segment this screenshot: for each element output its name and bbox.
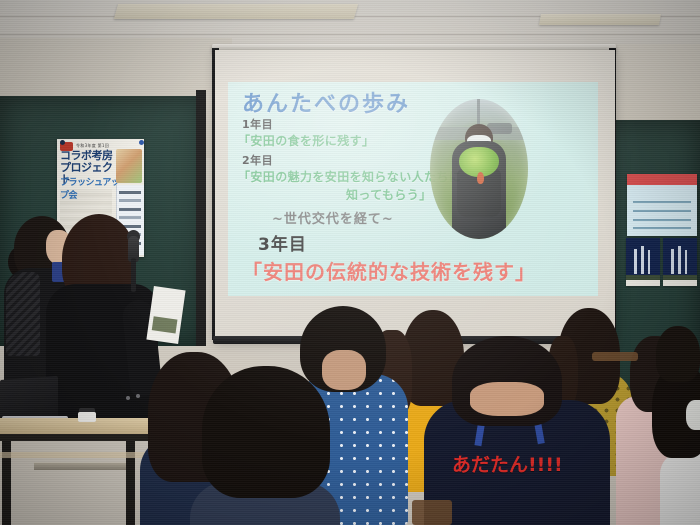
presentation-clicker [78,412,96,422]
handout-photo [152,316,178,333]
pushpin-icon [60,140,65,145]
slide-year2-quote-line1: 「安田の魅力を安田を知らない人たちに [238,168,461,185]
pushpin-icon [139,140,144,145]
slide-year2-quote-line2: 知ってもらう」 [346,186,432,203]
slide-title: あんたべの歩み [242,86,410,118]
poster-right-event-b [663,238,697,286]
poster-illustration [116,149,142,183]
chair-back [412,500,452,525]
poster-right-notice [627,174,697,236]
chalkboard-frame [196,90,206,346]
slide-photo-harvest [430,99,528,239]
slide-bridge-text: ~世代交代を経て~ [272,208,394,227]
microphone-handle [131,258,136,292]
tshirt-print-text: あだたん!!!! [452,450,563,477]
slide-year3-quote: 「安田の伝統的な技術を残す」 [242,256,536,285]
jacket-button-icon [126,396,130,400]
ceiling-seam [0,34,700,35]
poster-right-event-a [626,238,660,286]
face-mask-icon [686,400,700,430]
poster-subtitle: ブラッシュアップ会 [60,175,122,201]
chair-back [592,352,638,361]
desk-edge [0,434,168,441]
ceiling-light-icon [114,4,358,19]
slide-year3-label: 3年目 [258,230,307,255]
presenter-left-lace-sleeve [6,272,40,356]
classroom-presentation-photo: 令和3年度 第1回 コラボ考房 プロジェクト ブラッシュアップ会 [0,0,700,525]
chalk-rail [34,462,130,470]
ceiling-light-icon [539,14,661,25]
slide-year2-label: 2年目 [242,152,273,168]
presentation-slide: あんたべの歩み 1年目 「安田の食を形に残す」 2年目 「安田の魅力を安田を知ら… [228,82,598,296]
slide-year1-label: 1年目 [242,116,273,132]
slide-year1-quote: 「安田の食を形に残す」 [238,132,374,149]
desk-shelf [0,452,160,458]
jacket-button-icon [136,394,140,398]
